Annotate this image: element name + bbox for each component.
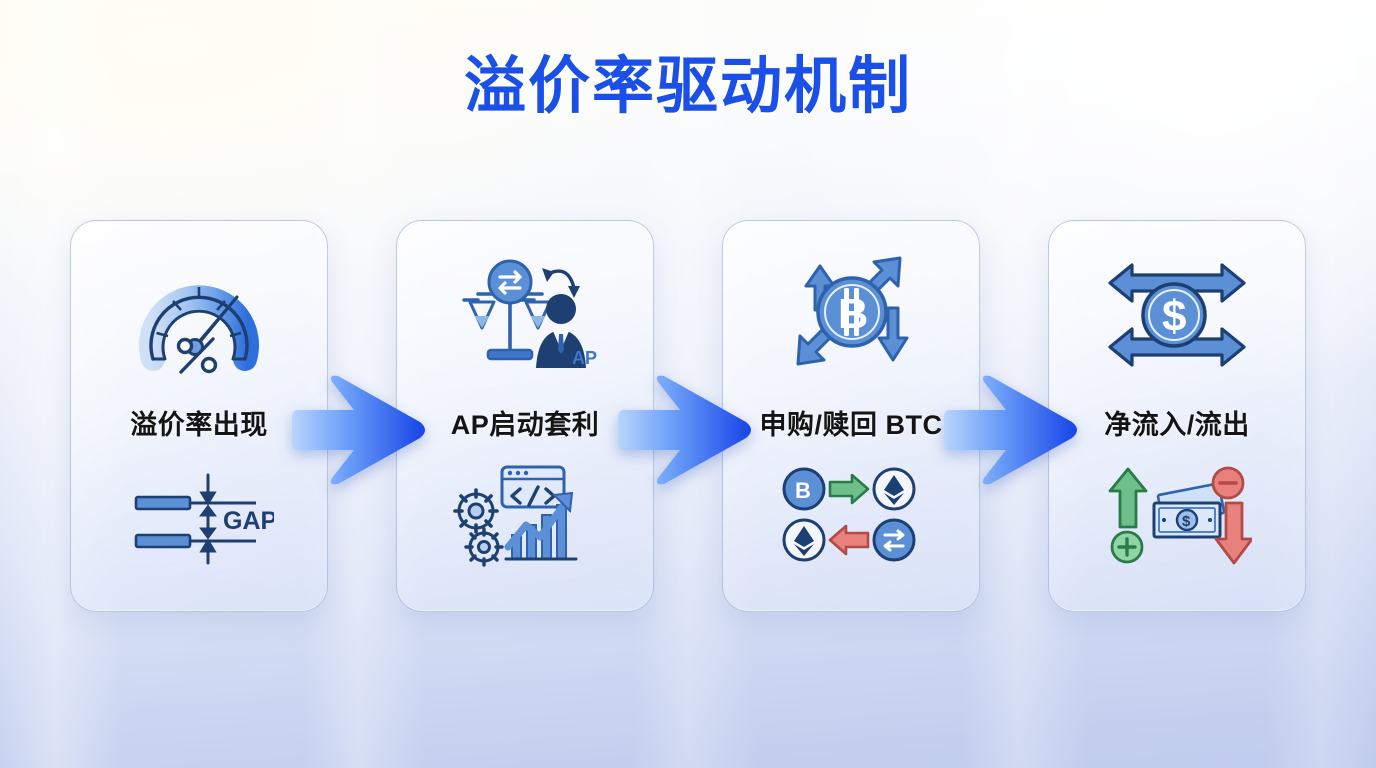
price-gap-icon: GAP [124,460,274,570]
inflow-outflow-cash-icon: $ [1102,460,1252,570]
banknote-dollar-symbol: $ [1182,513,1191,530]
bitcoin-four-arrows-icon: B [776,249,926,381]
ap-badge-label: AP [572,348,597,368]
slide-canvas: 溢价率驱动机制 [0,0,1376,768]
step-label: 净流入/流出 [1104,403,1250,442]
btc-eth-swap-icon: B [780,460,922,570]
step-label: 申购/赎回 BTC [760,403,943,442]
flow-step-4[interactable]: $ 净流入/流出 [1048,220,1306,612]
flow-diagram: 溢价率出现 [0,220,1376,612]
flow-step-1[interactable]: 溢价率出现 [70,220,328,612]
bitcoin-symbol: B [838,290,868,337]
step-card[interactable]: 溢价率出现 [70,220,328,612]
gears-code-growth-chart-icon [450,460,600,570]
flow-step-2[interactable]: AP AP启动套利 [396,220,654,612]
connector-slot-2 [654,220,722,612]
step-label: 溢价率出现 [130,403,268,442]
step-card[interactable]: AP AP启动套利 [396,220,654,612]
connector-slot-3 [980,220,1048,612]
step-card[interactable]: $ 净流入/流出 [1048,220,1306,612]
step-card[interactable]: B 申购/赎回 BTC B [722,220,980,612]
page-title: 溢价率驱动机制 [0,54,1376,119]
gauge-percent-icon [129,249,269,381]
step-label: AP启动套利 [451,403,600,442]
dollar-symbol: $ [1162,292,1186,341]
gap-label: GAP [223,507,274,535]
btc-symbol: B [795,478,811,503]
flow-step-3[interactable]: B 申购/赎回 BTC B [722,220,980,612]
dollar-bidirectional-arrows-icon: $ [1102,249,1252,381]
connector-slot-1 [328,220,396,612]
balance-scale-arbitrageur-icon: AP [450,249,600,381]
